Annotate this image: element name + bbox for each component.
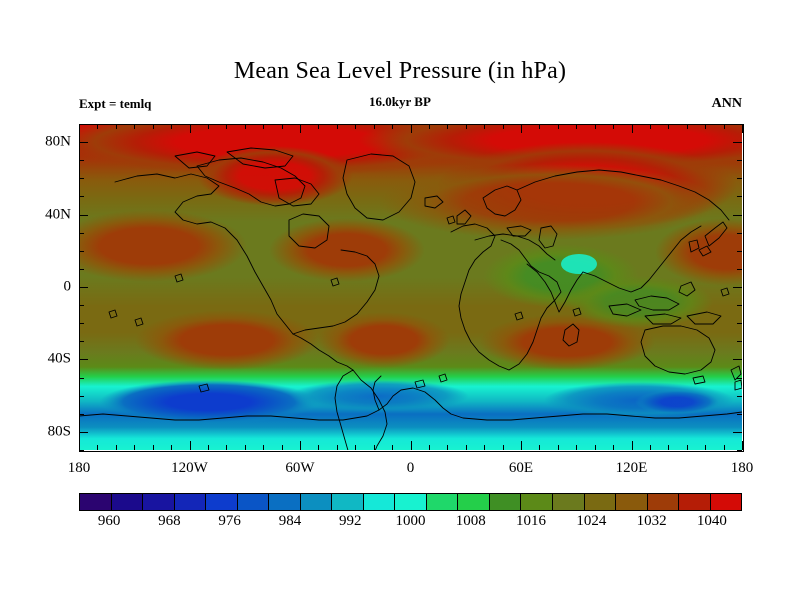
x-axis-tick [97,124,98,129]
colorbar-cell [552,494,584,510]
y-axis-tick [737,341,742,342]
x-axis-tick [245,124,246,129]
x-axis-tick [668,445,669,450]
x-axis-tick [613,445,614,450]
x-axis-label: 180 [731,460,754,477]
x-axis-tick [208,124,209,129]
y-axis-tick [79,269,84,270]
x-axis-tick [650,124,651,129]
x-axis-tick [724,445,725,450]
x-axis-tick [576,124,577,129]
x-axis-tick [668,124,669,129]
y-axis-tick [733,359,742,360]
x-axis-tick [521,441,522,450]
colorbar-cell [268,494,300,510]
x-axis-tick [190,441,191,450]
colorbar-cell [615,494,647,510]
x-axis-tick [742,124,743,133]
y-axis-tick [79,305,84,306]
colorbar-cell [520,494,552,510]
x-axis-tick [282,445,283,450]
y-axis-tick [79,287,88,288]
x-axis-tick [613,124,614,129]
x-axis-tick [134,124,135,129]
x-axis-tick [374,445,375,450]
y-axis-label: 80N [37,134,71,151]
x-axis-tick [392,445,393,450]
x-axis-tick [484,124,485,129]
y-axis-label: 80S [37,423,71,440]
x-axis-tick [687,124,688,129]
y-axis-tick [737,251,742,252]
x-axis-tick [245,445,246,450]
x-axis-label: 60W [285,460,314,477]
x-axis-label: 120E [616,460,648,477]
colorbar-cell [237,494,269,510]
y-axis-tick [79,215,88,216]
x-axis-tick [116,124,117,129]
x-axis-tick [558,445,559,450]
y-axis-tick [737,450,742,451]
y-axis-tick [733,287,742,288]
colorbar-cell [394,494,426,510]
colorbar-cell [363,494,395,510]
y-axis-tick [737,323,742,324]
x-axis-tick [226,124,227,129]
y-axis-tick [737,233,742,234]
x-axis-tick [171,445,172,450]
x-axis-tick [705,445,706,450]
x-axis-tick [503,445,504,450]
x-axis-tick [337,124,338,129]
colorbar-tick-label: 976 [218,513,241,530]
colorbar-cell [584,494,616,510]
map-plot-area [79,124,742,450]
colorbar-cell [331,494,363,510]
x-axis-tick [742,441,743,450]
colorbar-cell [457,494,489,510]
colorbar-cell [300,494,332,510]
y-axis-tick [733,432,742,433]
colorbar-cell [710,494,742,510]
y-axis-tick [737,305,742,306]
x-axis-tick [503,124,504,129]
y-axis-tick [79,124,84,125]
x-axis-tick [153,124,154,129]
y-axis-tick [79,251,84,252]
colorbar-tick-label: 1024 [576,513,606,530]
colorbar-cell [80,494,111,510]
x-axis-tick [558,124,559,129]
x-axis-tick [116,445,117,450]
x-axis-tick [539,124,540,129]
season-label: ANN [712,96,742,112]
x-axis-tick [97,445,98,450]
y-axis-tick [79,160,84,161]
x-axis-tick [79,124,80,133]
x-axis-tick [484,445,485,450]
x-axis-tick [134,445,135,450]
colorbar-tick-label: 992 [339,513,362,530]
colorbar-cell [426,494,458,510]
y-axis-tick [733,142,742,143]
colorbar-cell [489,494,521,510]
y-axis-tick [737,396,742,397]
y-axis-tick [737,414,742,415]
x-axis-tick [263,124,264,129]
y-axis-tick [737,160,742,161]
x-axis-tick [632,124,633,133]
colorbar-tick-label: 960 [98,513,121,530]
y-axis-label: 0 [37,279,71,296]
colorbar-tick-label: 1040 [697,513,727,530]
x-axis-tick [226,445,227,450]
y-axis-tick [737,378,742,379]
x-axis-tick [705,124,706,129]
x-axis-tick [632,441,633,450]
figure-canvas: Mean Sea Level Pressure (in hPa) 16.0kyr… [0,0,800,600]
x-axis-tick [447,124,448,129]
y-axis-tick [79,178,84,179]
colorbar-tick-label: 984 [279,513,302,530]
x-axis-tick [595,445,596,450]
x-axis-label: 0 [407,460,415,477]
x-axis-tick [318,124,319,129]
x-axis-tick [374,124,375,129]
colorbar-cell [678,494,710,510]
x-axis-tick [447,445,448,450]
x-axis-tick [355,124,356,129]
x-axis-tick [595,124,596,129]
y-axis-tick [737,269,742,270]
x-axis-tick [300,124,301,133]
x-axis-tick [153,445,154,450]
y-axis-tick [79,359,88,360]
x-axis-tick [208,445,209,450]
x-axis-tick [411,124,412,133]
colorbar-cell [647,494,679,510]
y-axis-tick [79,233,84,234]
y-axis-tick [79,378,84,379]
y-axis-tick [79,142,88,143]
y-axis-tick [79,341,84,342]
y-axis-tick [737,178,742,179]
colorbar-cell [142,494,174,510]
x-axis-tick [263,445,264,450]
colorbar-tick-label: 968 [158,513,181,530]
y-axis-label: 40N [37,206,71,223]
colorbar-tick-label: 1016 [516,513,546,530]
colorbar-tick-label: 1008 [456,513,486,530]
x-axis-tick [79,441,80,450]
x-axis-tick [282,124,283,129]
x-axis-tick [392,124,393,129]
x-axis-tick [687,445,688,450]
x-axis-tick [411,441,412,450]
x-axis-tick [466,124,467,129]
x-axis-tick [429,445,430,450]
colorbar-tick-label: 1032 [637,513,667,530]
colorbar[interactable] [79,493,742,511]
y-axis-tick [79,323,84,324]
colorbar-tick-label: 1000 [396,513,426,530]
x-axis-tick [650,445,651,450]
x-axis-tick [190,124,191,133]
x-axis-tick [466,445,467,450]
x-axis-tick [171,124,172,129]
colorbar-cell [174,494,206,510]
experiment-label: Expt = temlq [79,96,151,112]
y-axis-tick [737,124,742,125]
colorbar-cell [205,494,237,510]
x-axis-tick [429,124,430,129]
y-axis-tick [79,432,88,433]
x-axis-tick [576,445,577,450]
y-axis-tick [79,396,84,397]
x-axis-label: 180 [68,460,91,477]
y-axis-tick [79,196,84,197]
y-axis-tick [79,414,84,415]
x-axis-tick [724,124,725,129]
y-axis-tick [737,196,742,197]
x-axis-label: 120W [171,460,208,477]
x-axis-tick [318,445,319,450]
x-axis-tick [337,445,338,450]
x-axis-tick [521,124,522,133]
x-axis-label: 60E [509,460,533,477]
x-axis-tick [355,445,356,450]
y-axis-tick [79,450,84,451]
y-axis-tick [733,215,742,216]
y-axis-label: 40S [37,351,71,368]
colorbar-cell [111,494,143,510]
x-axis-tick [300,441,301,450]
x-axis-tick [539,445,540,450]
page-title: Mean Sea Level Pressure (in hPa) [0,58,800,85]
